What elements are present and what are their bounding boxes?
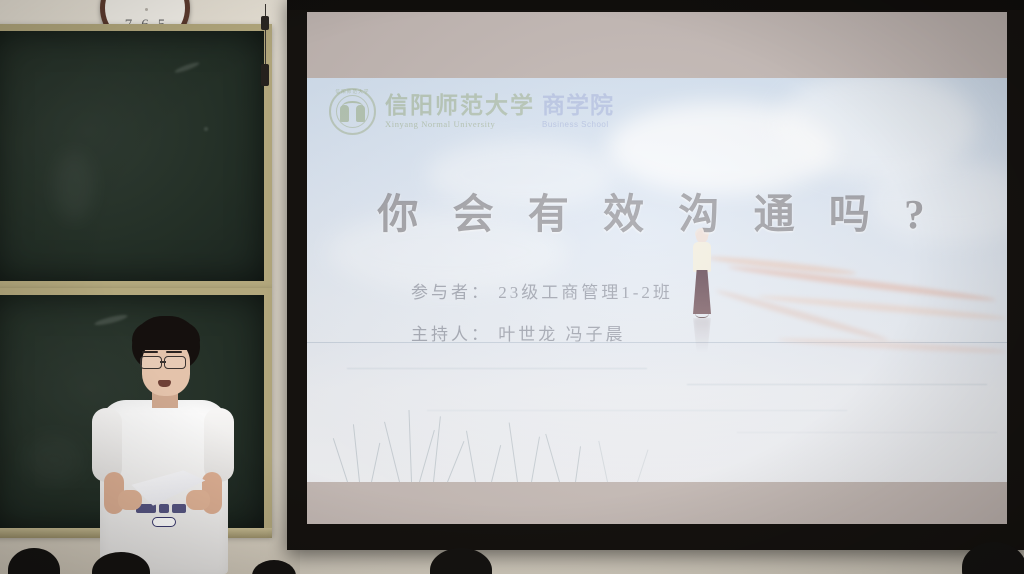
- presenter-sleeve-right: [204, 408, 234, 482]
- presentation-slide: 信阳师范大学 信阳师范大学 Xinyang Normal University …: [307, 12, 1007, 524]
- presenter: [88, 316, 238, 574]
- chalk-smudge: [204, 127, 208, 131]
- tshirt-graphic-row: [136, 504, 192, 513]
- screen-top-rail: [287, 0, 1024, 10]
- presenter-mouth: [158, 380, 171, 387]
- glasses-lens-right-icon: [164, 356, 186, 369]
- school-name-en: Business School: [542, 120, 614, 129]
- emblem-figures-icon: [340, 101, 365, 123]
- emblem-arms-icon: [342, 101, 363, 112]
- tshirt-graphic: [136, 504, 192, 530]
- clock-center-dot: [145, 8, 148, 11]
- slide-subtitle-participants: 参与者： 23级工商管理1-2班: [411, 278, 673, 303]
- university-logo-lockup: 信阳师范大学 信阳师范大学 Xinyang Normal University …: [329, 88, 614, 135]
- slide-figure-illustration: [689, 230, 715, 328]
- emblem-ring-text: 信阳师范大学: [335, 89, 370, 95]
- university-emblem-icon: 信阳师范大学: [329, 88, 376, 135]
- presenter-sleeve-left: [92, 408, 122, 482]
- chalk-smudge: [174, 61, 200, 75]
- projector-screen-frame: 信阳师范大学 信阳师范大学 Xinyang Normal University …: [287, 0, 1024, 550]
- university-name-cn: 信阳师范大学: [385, 94, 535, 118]
- water-ripple: [427, 410, 847, 411]
- cord-clip-icon: [261, 16, 269, 30]
- figure-skirt: [693, 270, 711, 314]
- tshirt-graphic-chip: [159, 504, 169, 513]
- logo-text-group: 信阳师范大学 Xinyang Normal University 商学院 Bus…: [385, 94, 614, 129]
- slide-bottom-band: [307, 482, 1007, 524]
- blackboard-upper: [0, 24, 272, 288]
- water-ripple: [687, 384, 987, 385]
- university-name-en: Xinyang Normal University: [385, 119, 535, 129]
- presenter-eyebrow-left: [142, 351, 158, 353]
- tshirt-graphic-chip: [172, 504, 186, 513]
- water-ripple: [737, 432, 997, 433]
- cord-weight-icon: [261, 64, 269, 86]
- slide-top-band: [307, 12, 1007, 78]
- figure-top: [693, 242, 711, 272]
- presenter-eyebrow-right: [166, 351, 182, 353]
- glasses-lens-left-icon: [140, 356, 162, 369]
- water-ripple: [347, 368, 647, 369]
- school-name-block: 商学院 Business School: [542, 94, 614, 129]
- chalk-smudge: [24, 435, 84, 485]
- school-name-cn: 商学院: [542, 94, 614, 118]
- figure-feet: [695, 313, 709, 318]
- presenter-hand-left: [118, 490, 142, 510]
- tshirt-graphic-pill: [152, 517, 176, 527]
- presenter-fringe: [132, 322, 200, 350]
- slide-title: 你 会 有 效 沟 通 吗 ?: [307, 180, 1007, 240]
- presenter-hand-right: [186, 490, 210, 510]
- glasses-bridge-icon: [160, 361, 166, 363]
- university-name-block: 信阳师范大学 Xinyang Normal University: [385, 94, 535, 129]
- classroom-photo: 7 6 5: [0, 0, 1024, 574]
- chalk-smudge: [54, 151, 94, 221]
- slide-subtitle-hosts: 主持人： 叶世龙 冯子晨: [411, 320, 626, 345]
- blackboard-upper-surface: [0, 31, 264, 281]
- slide-water: [307, 342, 1007, 482]
